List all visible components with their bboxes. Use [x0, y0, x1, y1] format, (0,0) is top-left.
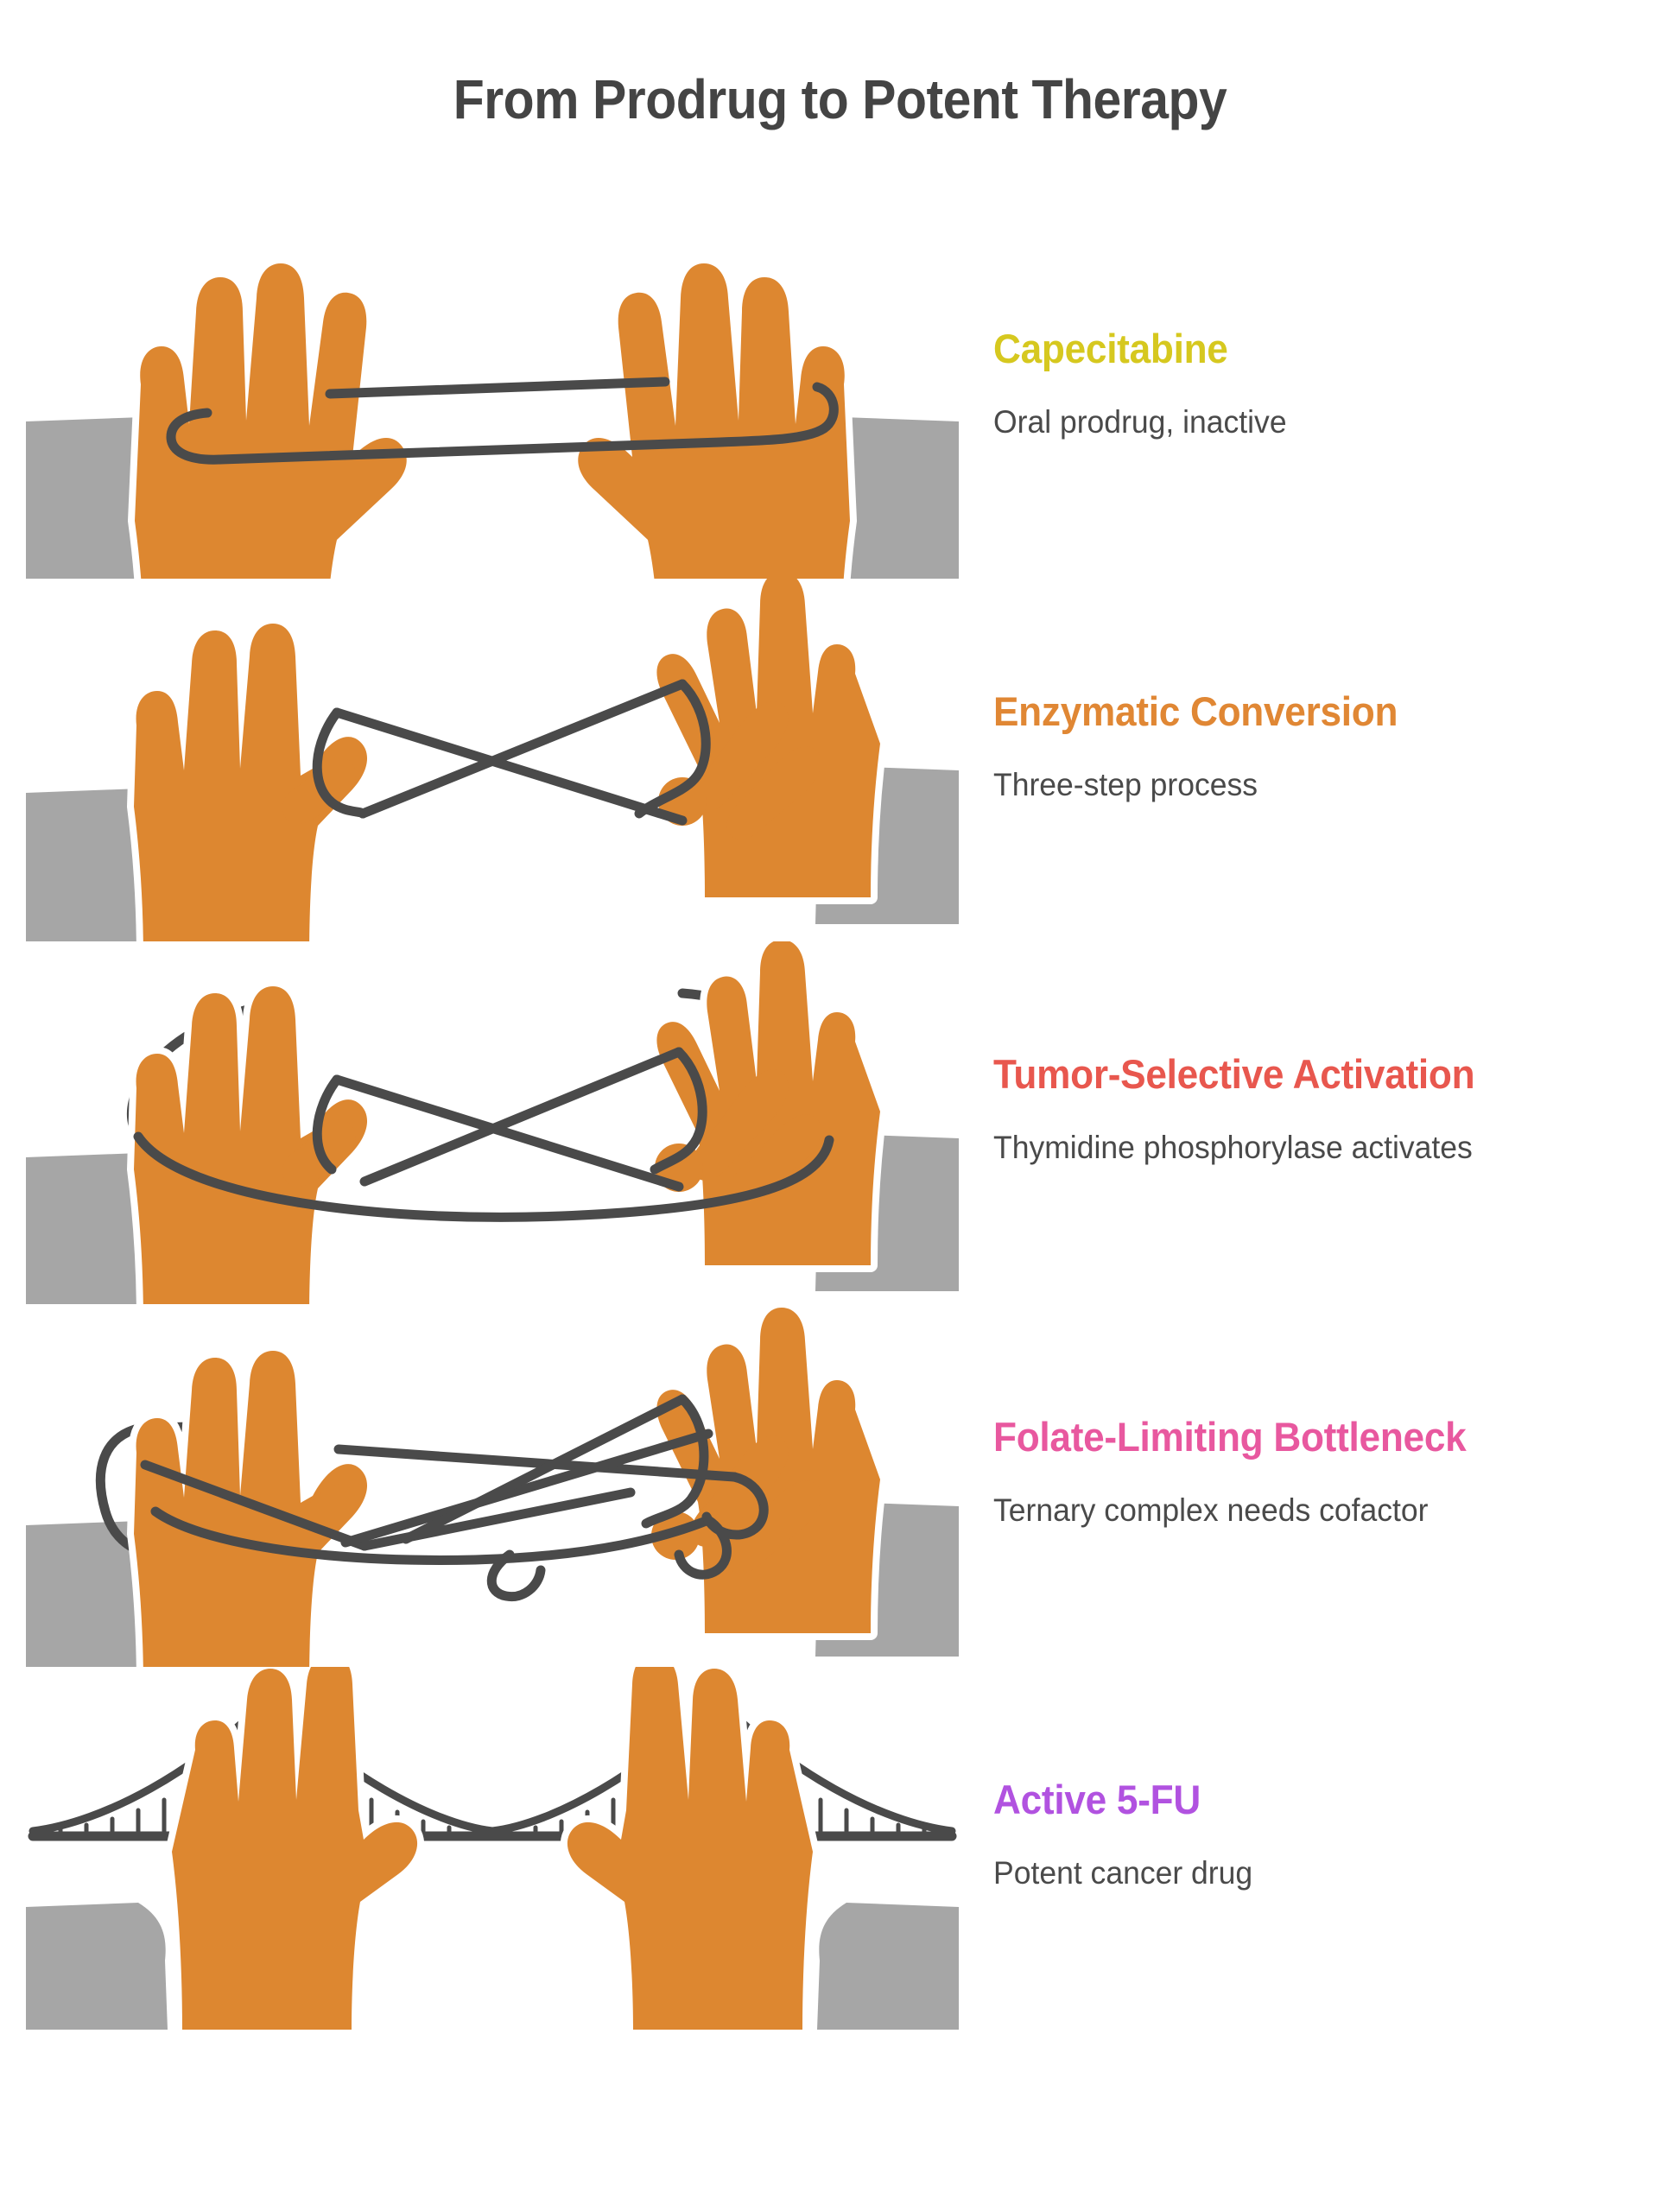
step-label-5: Active 5-FU Potent cancer drug — [993, 1667, 1676, 2030]
step-subtitle-4: Ternary complex needs cofactor — [993, 1492, 1428, 1529]
step-label-1: Capecitabine Oral prodrug, inactive — [993, 216, 1676, 579]
step-subtitle-3: Thymidine phosphorylase activates — [993, 1130, 1473, 1166]
hand-right — [578, 263, 850, 579]
hand-left-vertical — [172, 1667, 417, 2030]
bridge-illustration — [26, 1667, 959, 2030]
step-title-5: Active 5-FU — [993, 1776, 1201, 1823]
step-row-1: Capecitabine Oral prodrug, inactive — [0, 216, 1680, 579]
suspension-bridge — [33, 1698, 952, 1836]
step-title-4: Folate-Limiting Bottleneck — [993, 1413, 1466, 1460]
string-figure-illustration-2 — [26, 579, 959, 941]
sleeve-left — [26, 1903, 168, 2030]
string-figure-illustration-4 — [26, 1304, 959, 1667]
sleeve-right — [817, 1903, 959, 2030]
step-title-1: Capecitabine — [993, 325, 1228, 372]
hand-left-pinch — [134, 986, 367, 1304]
step-row-4: Folate-Limiting Bottleneck Ternary compl… — [0, 1304, 1680, 1667]
hand-left-pinch — [134, 624, 367, 941]
step-title-2: Enzymatic Conversion — [993, 687, 1398, 735]
string-figure-illustration-1 — [26, 216, 959, 579]
step-row-3: Tumor-Selective Activation Thymidine pho… — [0, 941, 1680, 1304]
string-cross — [317, 684, 706, 820]
step-row-5: Active 5-FU Potent cancer drug — [0, 1667, 1680, 2030]
step-subtitle-1: Oral prodrug, inactive — [993, 404, 1287, 440]
step-label-3: Tumor-Selective Activation Thymidine pho… — [993, 941, 1676, 1304]
step-subtitle-2: Three-step process — [993, 767, 1258, 803]
infographic-page: From Prodrug to Potent Therapy — [0, 0, 1680, 2211]
string-figure-illustration-3 — [26, 941, 959, 1304]
step-label-4: Folate-Limiting Bottleneck Ternary compl… — [993, 1304, 1676, 1667]
hand-right-vertical — [567, 1667, 813, 2030]
step-label-2: Enzymatic Conversion Three-step process — [993, 579, 1676, 941]
step-subtitle-5: Potent cancer drug — [993, 1855, 1252, 1891]
page-title: From Prodrug to Potent Therapy — [67, 67, 1613, 131]
step-title-3: Tumor-Selective Activation — [993, 1050, 1474, 1098]
step-row-2: Enzymatic Conversion Three-step process — [0, 579, 1680, 941]
